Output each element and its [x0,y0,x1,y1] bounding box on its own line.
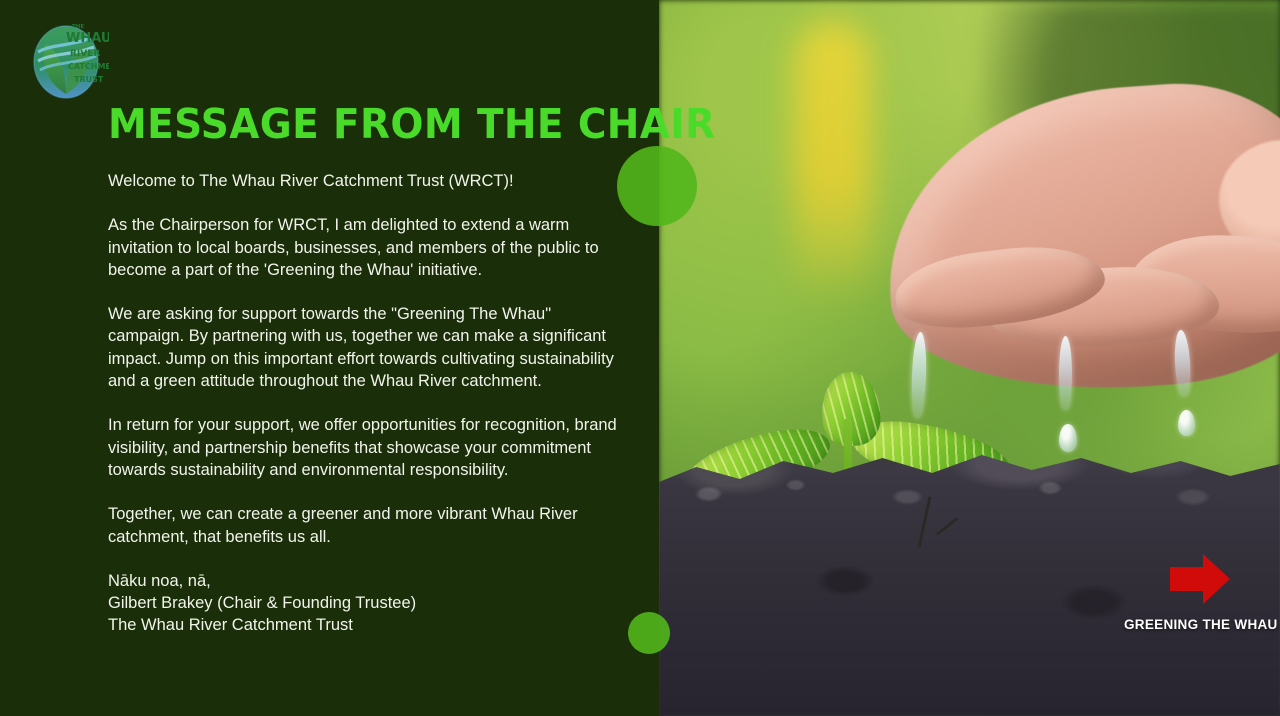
logo-line-the: THE [72,24,84,30]
signature-salutation: Nāku noa, nā, [108,570,618,592]
photo-image [659,0,1280,716]
signature-organisation: The Whau River Catchment Trust [108,614,618,636]
paragraph-campaign: We are asking for support towards the "G… [108,303,618,392]
hand-watering-seedling-photo [659,0,1280,716]
the-whau-river-catchment-trust-logo: THE WHAU RIVER CATCHMENT TRUST [32,16,109,103]
water-drop-5 [1178,410,1195,436]
logo-line-catchment: CATCHMENT [68,62,109,71]
paragraph-benefits: In return for your support, we offer opp… [108,414,618,481]
photo-background-yellow-blur [794,20,872,310]
logo-line-trust: TRUST [74,75,104,84]
logo-line-river: RIVER [70,49,100,59]
decorative-circle-small [628,612,670,654]
water-stream-2 [1059,336,1072,410]
message-body: Welcome to The Whau River Catchment Trus… [108,170,618,637]
paragraph-welcome: Welcome to The Whau River Catchment Trus… [108,170,618,192]
signature-name: Gilbert Brakey (Chair & Founding Trustee… [108,592,618,614]
water-drop-3 [1059,424,1077,452]
right-arrow-icon [1170,554,1230,604]
photo-caption: GREENING THE WHAU [1124,617,1278,632]
page-title: MESSAGE FROM THE CHAIR [108,103,716,146]
paragraph-invitation: As the Chairperson for WRCT, I am deligh… [108,214,618,281]
paragraph-together: Together, we can create a greener and mo… [108,503,618,548]
decorative-circle-large [617,146,697,226]
slide-canvas: GREENING THE WHAU [0,0,1280,716]
logo-line-whau: WHAU [66,31,109,46]
signature-block: Nāku noa, nā, Gilbert Brakey (Chair & Fo… [108,570,618,637]
